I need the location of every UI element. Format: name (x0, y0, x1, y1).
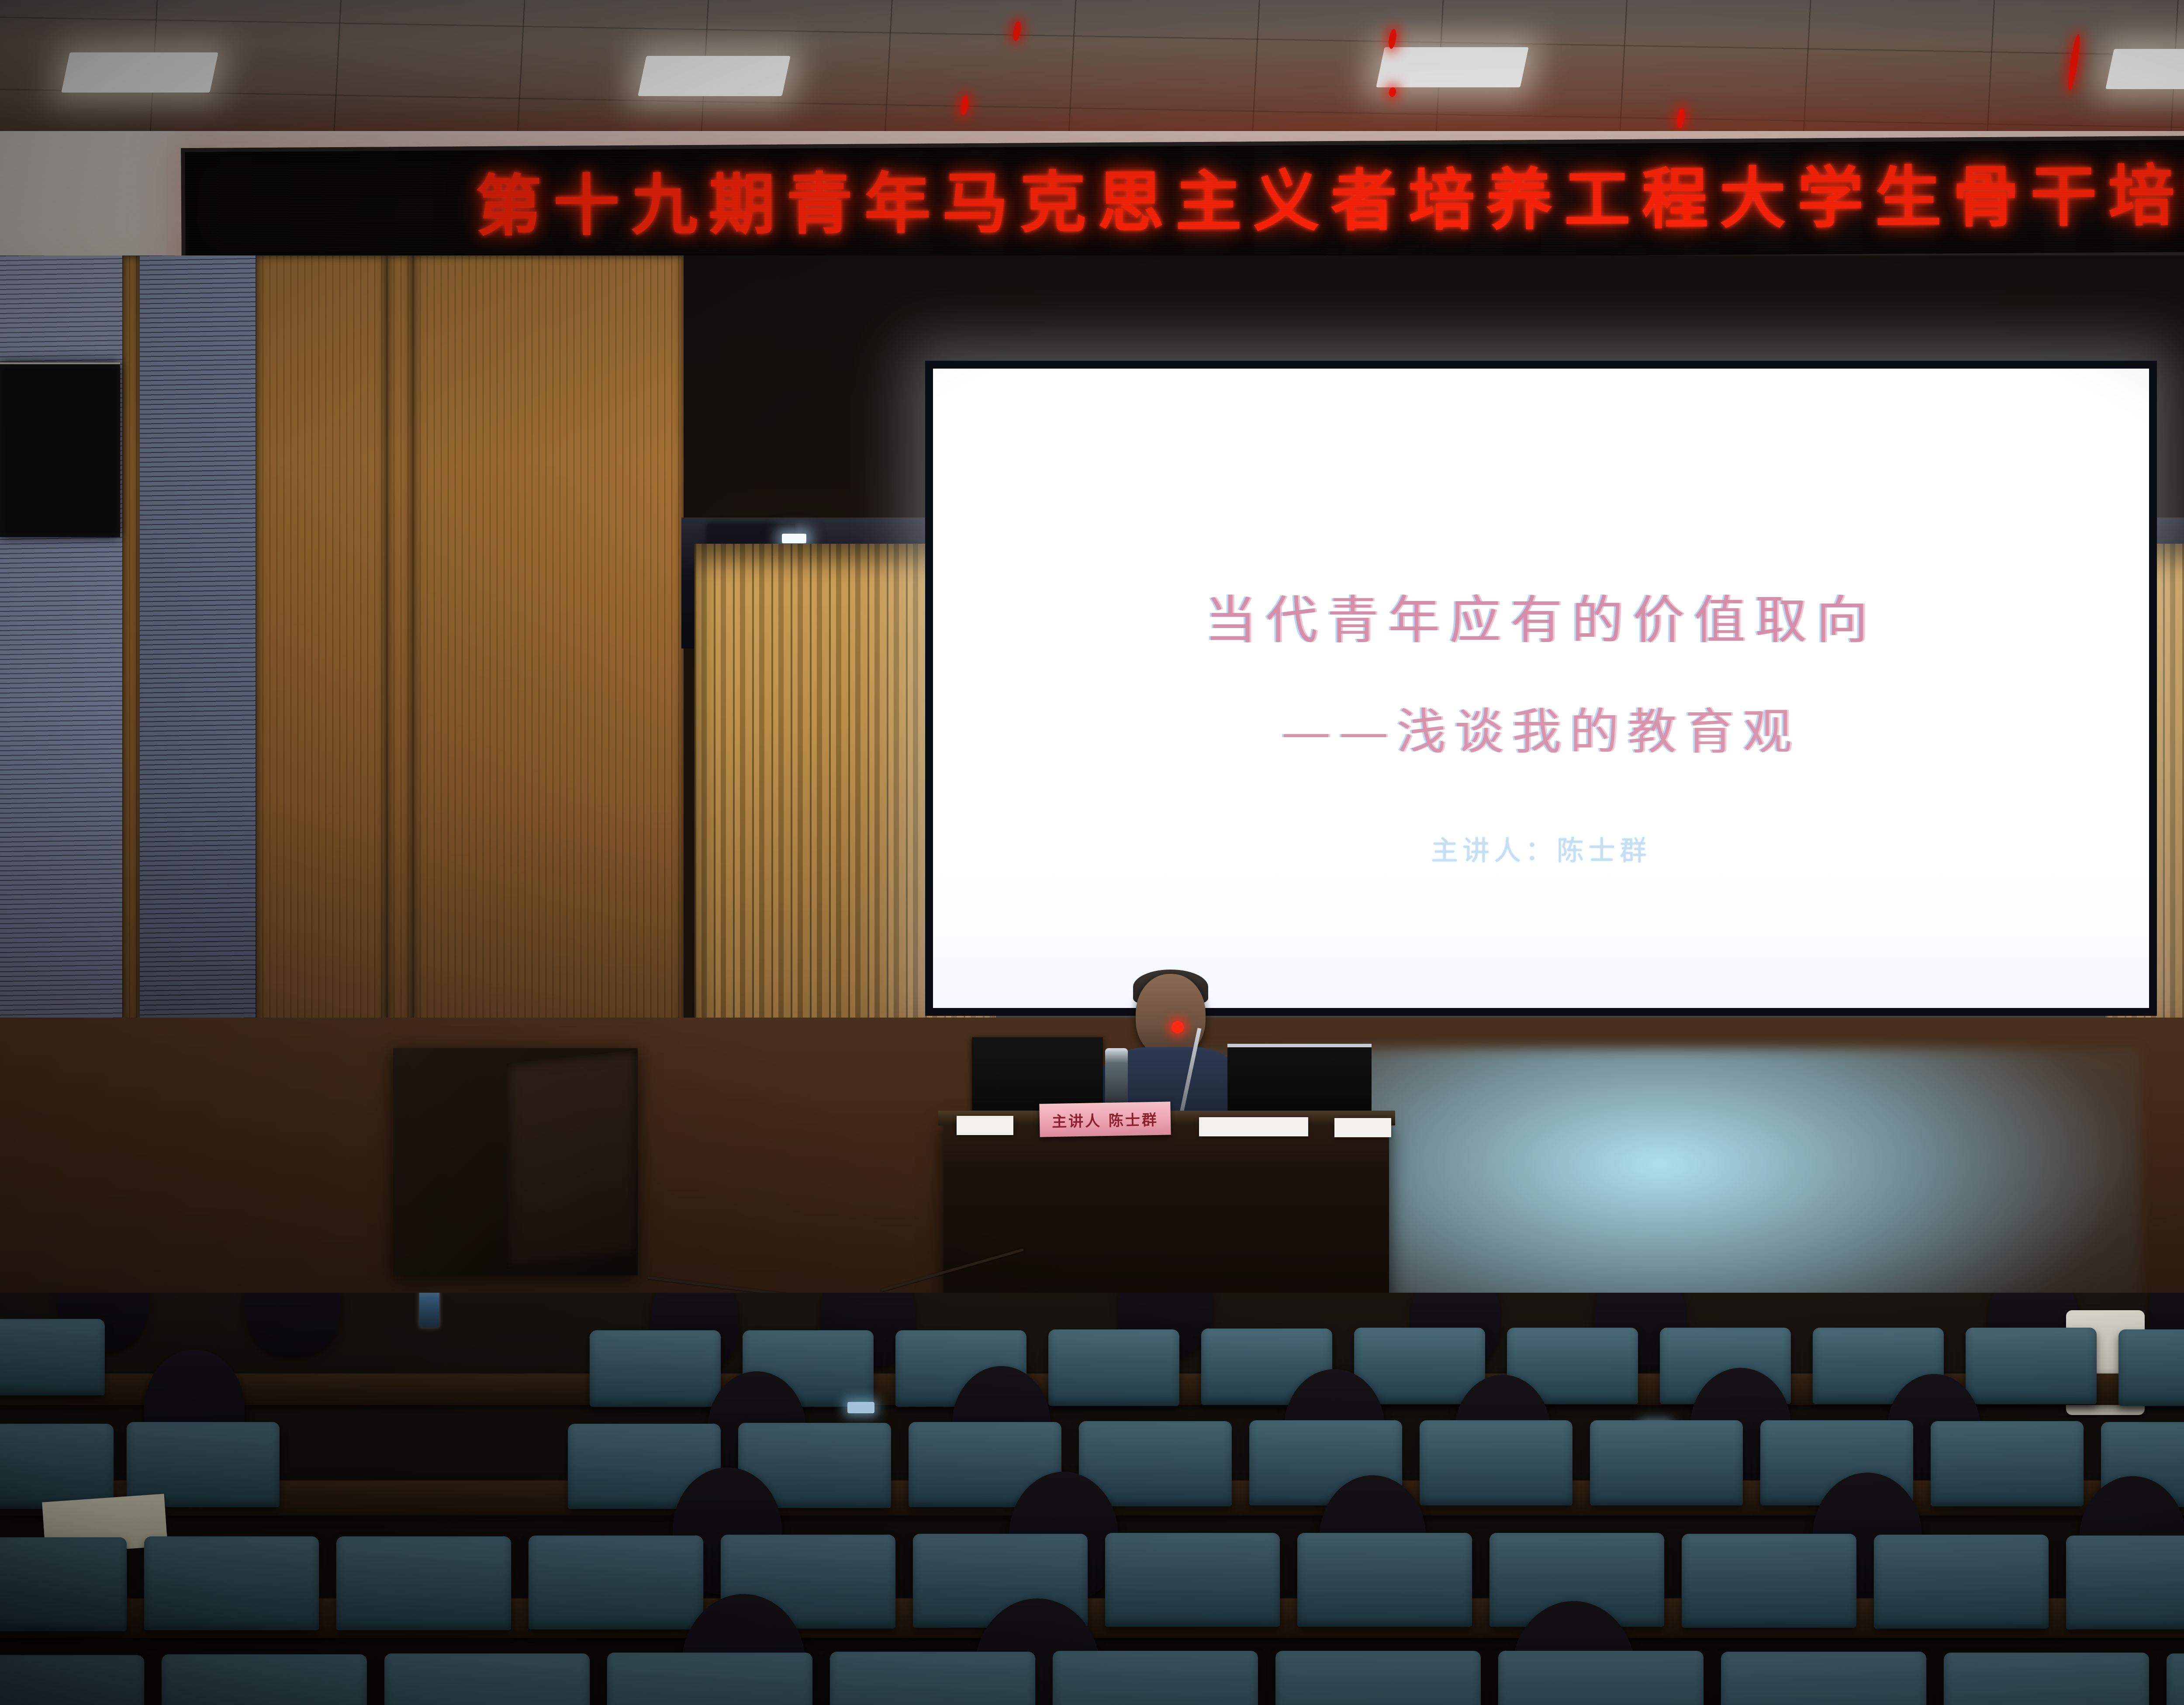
ceiling (0, 0, 2184, 144)
audience-seat (2118, 1329, 2184, 1406)
water-bottle-icon (1105, 1048, 1128, 1105)
projection-screen-frame: 当代青年应有的价值取向 ——浅谈我的教育观 主讲人：陈士群 (925, 361, 2157, 1016)
audience-seat (336, 1536, 511, 1630)
audience-seat (0, 1537, 127, 1631)
auditorium-scene: 第十九期青年马克思主义者培养工程大学生骨干培训班专题报告 (0, 0, 2184, 1705)
ceiling-warm-glow (0, 0, 2184, 144)
ceiling-light-icon (1376, 47, 1529, 87)
laptop-icon (1227, 1044, 1372, 1116)
audience-seat (529, 1536, 703, 1629)
slide-title: 当代青年应有的价值取向 (1205, 578, 1877, 653)
podium-panel (507, 1050, 638, 1269)
audience-seat (384, 1653, 590, 1705)
banner-text: 第十九期青年马克思主义者培养工程大学生骨干培训班专题报告 (464, 160, 2184, 240)
audience-seat (830, 1652, 1035, 1705)
audience-seat (1048, 1329, 1179, 1406)
name-placard: 主讲人 陈士群 (1039, 1101, 1171, 1137)
audience-seat (1053, 1651, 1258, 1705)
audience-seat (1931, 1421, 2084, 1506)
ceiling-light-icon (638, 56, 791, 96)
side-podium (393, 1048, 638, 1275)
paper-sheet (1199, 1117, 1308, 1136)
name-placard-text: 主讲人 陈士群 (1052, 1108, 1159, 1131)
audience-seat (1275, 1651, 1481, 1705)
audience-seat (162, 1654, 367, 1705)
seat-row-rail (0, 1598, 2184, 1638)
audience-seat (590, 1330, 721, 1407)
microphone-indicator (1171, 1021, 1184, 1033)
ceiling-light-icon (61, 52, 218, 93)
audience-seat (0, 1655, 144, 1705)
audience-head (245, 1293, 341, 1356)
audience-seat (0, 1424, 114, 1509)
led-banner: 第十九期青年马克思主义者培养工程大学生骨干培训班专题报告 (181, 131, 2184, 269)
audience-seat (1721, 1652, 1926, 1705)
slide-subtitle: ——浅谈我的教育观 (1282, 692, 1800, 763)
audience-seat (1420, 1420, 1572, 1505)
phone-screen-glow (847, 1402, 874, 1413)
audience-seat (1498, 1651, 1704, 1705)
projection-screen: 当代青年应有的价值取向 ——浅谈我的教育观 主讲人：陈士群 (933, 369, 2149, 1008)
audience-seat (1874, 1535, 2049, 1629)
audience-seat (1944, 1653, 2149, 1705)
ceiling-light-icon (2105, 49, 2184, 89)
water-bottle-icon (419, 1293, 439, 1328)
spotlight (782, 534, 806, 543)
audience-seat (144, 1536, 319, 1630)
paper-sheet (1334, 1118, 1391, 1137)
lecture-desk (943, 1120, 1389, 1304)
audience-seat (1966, 1328, 2097, 1404)
audience-seat (0, 1319, 105, 1395)
audience-seat (1682, 1534, 1856, 1628)
audience-seating (0, 1293, 2184, 1705)
loudspeaker-icon (0, 362, 120, 537)
audience-seat (2167, 1653, 2184, 1705)
audience-seat (1297, 1533, 1472, 1627)
audience-seat (2066, 1536, 2184, 1629)
audience-seat (607, 1653, 812, 1705)
audience-seat (1590, 1420, 1743, 1505)
audience-seat (1105, 1533, 1280, 1627)
paper-sheet (957, 1116, 1013, 1135)
slide-presenter: 主讲人：陈士群 (1431, 828, 1651, 868)
